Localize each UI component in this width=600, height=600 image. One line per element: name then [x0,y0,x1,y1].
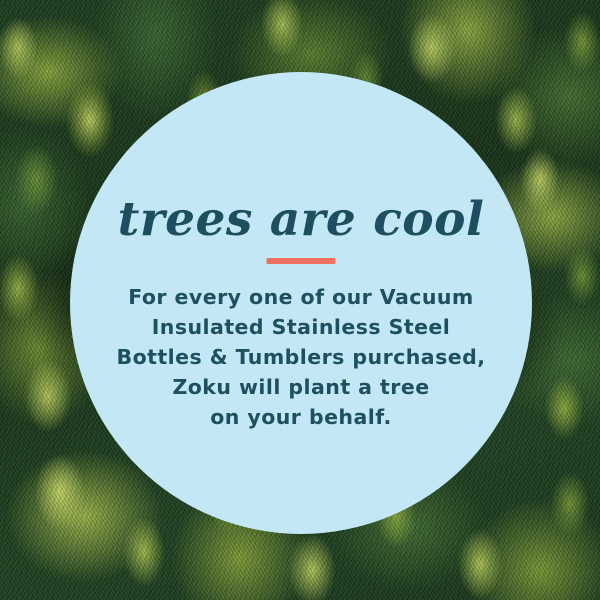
body-copy-line-2: Insulated Stainless Steel [70,312,532,342]
body-copy: For every one of our Vacuum Insulated St… [70,282,532,432]
promo-poster: trees are cool For every one of our Vacu… [0,0,600,600]
accent-divider [267,258,336,264]
body-copy-line-3: Bottles & Tumblers purchased, [70,342,532,372]
message-circle-panel: trees are cool For every one of our Vacu… [70,72,532,534]
page-title: trees are cool [70,196,532,243]
body-copy-line-5: on your behalf. [70,402,532,432]
body-copy-line-1: For every one of our Vacuum [70,282,532,312]
body-copy-line-4: Zoku will plant a tree [70,372,532,402]
